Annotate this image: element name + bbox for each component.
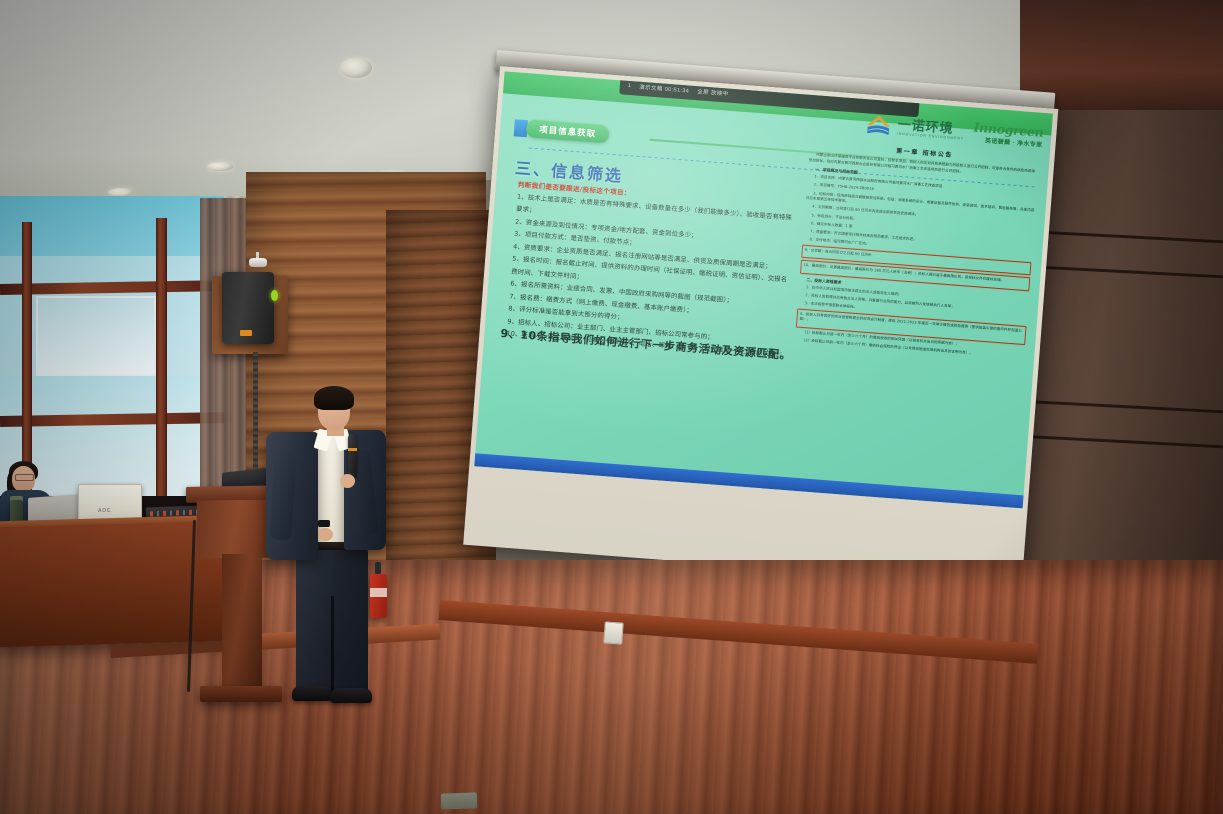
extinguisher-valve bbox=[375, 562, 381, 574]
floor-socket-icon[interactable] bbox=[441, 792, 478, 809]
podium-column bbox=[222, 554, 262, 694]
window-wall bbox=[0, 196, 232, 496]
player-mode: 全屏 放映中 bbox=[697, 87, 729, 97]
jbl-logo bbox=[240, 330, 252, 336]
presenter-shoe bbox=[330, 688, 372, 703]
conference-room-photo: 1 演示文稿 00:51:34 全屏 放映中 一诺环境 INNOVATION E… bbox=[0, 0, 1223, 814]
window-mullion bbox=[22, 222, 32, 496]
presentation-slide: 1 演示文稿 00:51:34 全屏 放映中 一诺环境 INNOVATION E… bbox=[474, 71, 1053, 508]
player-index: 1 bbox=[628, 83, 632, 89]
presenter-leg-seam bbox=[331, 596, 334, 694]
speaker-cable bbox=[253, 352, 258, 480]
window-mullion bbox=[156, 218, 167, 496]
podium-base bbox=[200, 686, 282, 702]
player-status: 演示文稿 00:51:34 bbox=[639, 83, 690, 95]
microphone-band bbox=[348, 448, 357, 451]
security-camera-icon bbox=[249, 258, 267, 267]
extinguisher-label bbox=[370, 588, 387, 597]
monitor-brand-label: AOC bbox=[98, 508, 111, 514]
presenter-hand-right bbox=[340, 474, 355, 488]
exterior-window-frame bbox=[36, 296, 156, 376]
slide-section-tab: 项目信息获取 bbox=[526, 119, 610, 143]
slide-document-panel: 第一章 招标公告 内蒙古阴山环保服务平台有限责任公司受托，招标本项目，招标人拟定… bbox=[784, 139, 1039, 496]
microphone-icon bbox=[348, 434, 357, 478]
status-led-icon bbox=[271, 290, 278, 301]
mountain-wave-logo-icon bbox=[864, 112, 894, 138]
projection-screen[interactable]: 1 演示文稿 00:51:34 全屏 放映中 一诺环境 INNOVATION E… bbox=[463, 66, 1058, 588]
presenter-hair bbox=[314, 386, 354, 410]
attendee-glasses-icon bbox=[15, 474, 34, 481]
fire-extinguisher bbox=[370, 574, 387, 618]
presenter-hand-left bbox=[318, 528, 333, 541]
presenter-shoe bbox=[292, 686, 332, 701]
wall-outlet-icon[interactable] bbox=[603, 621, 623, 644]
presentation-clicker[interactable] bbox=[318, 520, 330, 527]
ceiling-downlight bbox=[207, 162, 233, 171]
ceiling-downlight bbox=[340, 58, 372, 78]
